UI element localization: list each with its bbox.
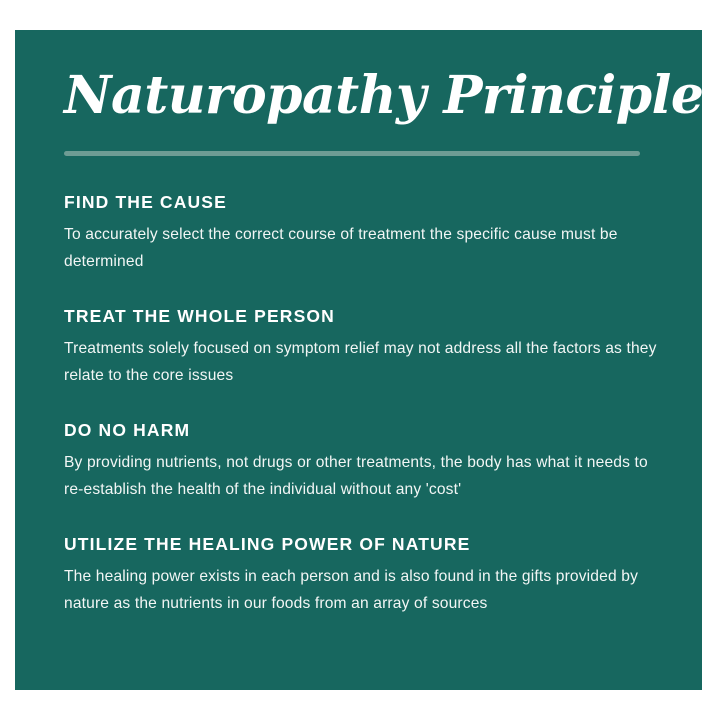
principle-heading-find-the-cause: FIND THE CAUSE — [64, 192, 664, 213]
poster-canvas: Naturopathy Principles FIND THE CAUSE To… — [0, 0, 718, 718]
principle-heading-do-no-harm: DO NO HARM — [64, 420, 664, 441]
principle-body-do-no-harm: By providing nutrients, not drugs or oth… — [64, 449, 664, 503]
principle-body-treat-the-whole-person: Treatments solely focused on symptom rel… — [64, 335, 664, 389]
principle-heading-treat-the-whole-person: TREAT THE WHOLE PERSON — [64, 306, 664, 327]
green-card-panel: Naturopathy Principles FIND THE CAUSE To… — [15, 30, 702, 690]
principle-heading-utilize-the-healing-power-of-nature: UTILIZE THE HEALING POWER OF NATURE — [64, 534, 664, 555]
list-item: FIND THE CAUSE To accurately select the … — [64, 192, 664, 275]
list-item: DO NO HARM By providing nutrients, not d… — [64, 420, 664, 503]
list-item: TREAT THE WHOLE PERSON Treatments solely… — [64, 306, 664, 389]
principle-body-utilize-the-healing-power-of-nature: The healing power exists in each person … — [64, 563, 664, 617]
page-title: Naturopathy Principles — [64, 66, 702, 126]
title-divider-rule — [64, 151, 640, 156]
principles-list: FIND THE CAUSE To accurately select the … — [64, 192, 664, 617]
principle-body-find-the-cause: To accurately select the correct course … — [64, 221, 664, 275]
list-item: UTILIZE THE HEALING POWER OF NATURE The … — [64, 534, 664, 617]
